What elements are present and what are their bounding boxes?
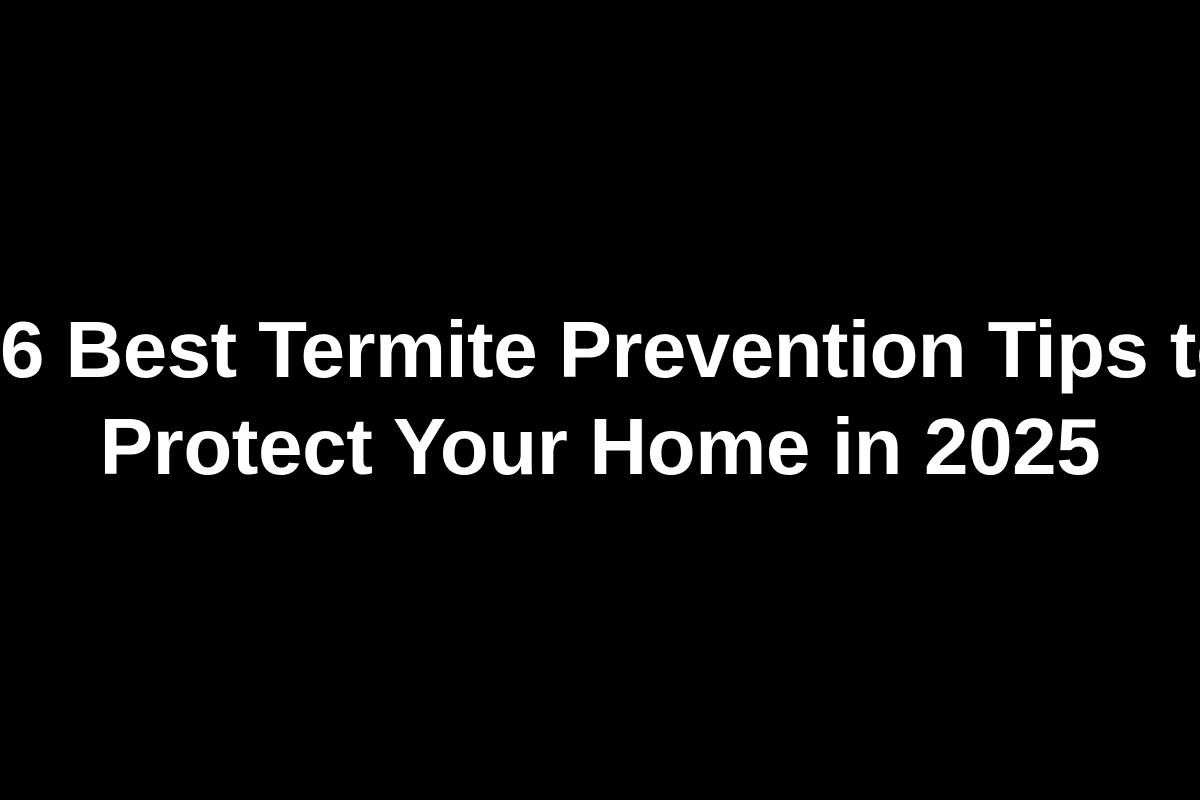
page-title: 6 Best Termite Prevention Tips to Protec… xyxy=(0,301,1200,495)
title-card: 6 Best Termite Prevention Tips to Protec… xyxy=(0,0,1200,800)
headline-line-2: Protect Your Home in 2025 xyxy=(0,398,1200,495)
headline-line-1: 6 Best Termite Prevention Tips to xyxy=(0,301,1200,398)
headline-block: 6 Best Termite Prevention Tips to Protec… xyxy=(0,301,1200,495)
